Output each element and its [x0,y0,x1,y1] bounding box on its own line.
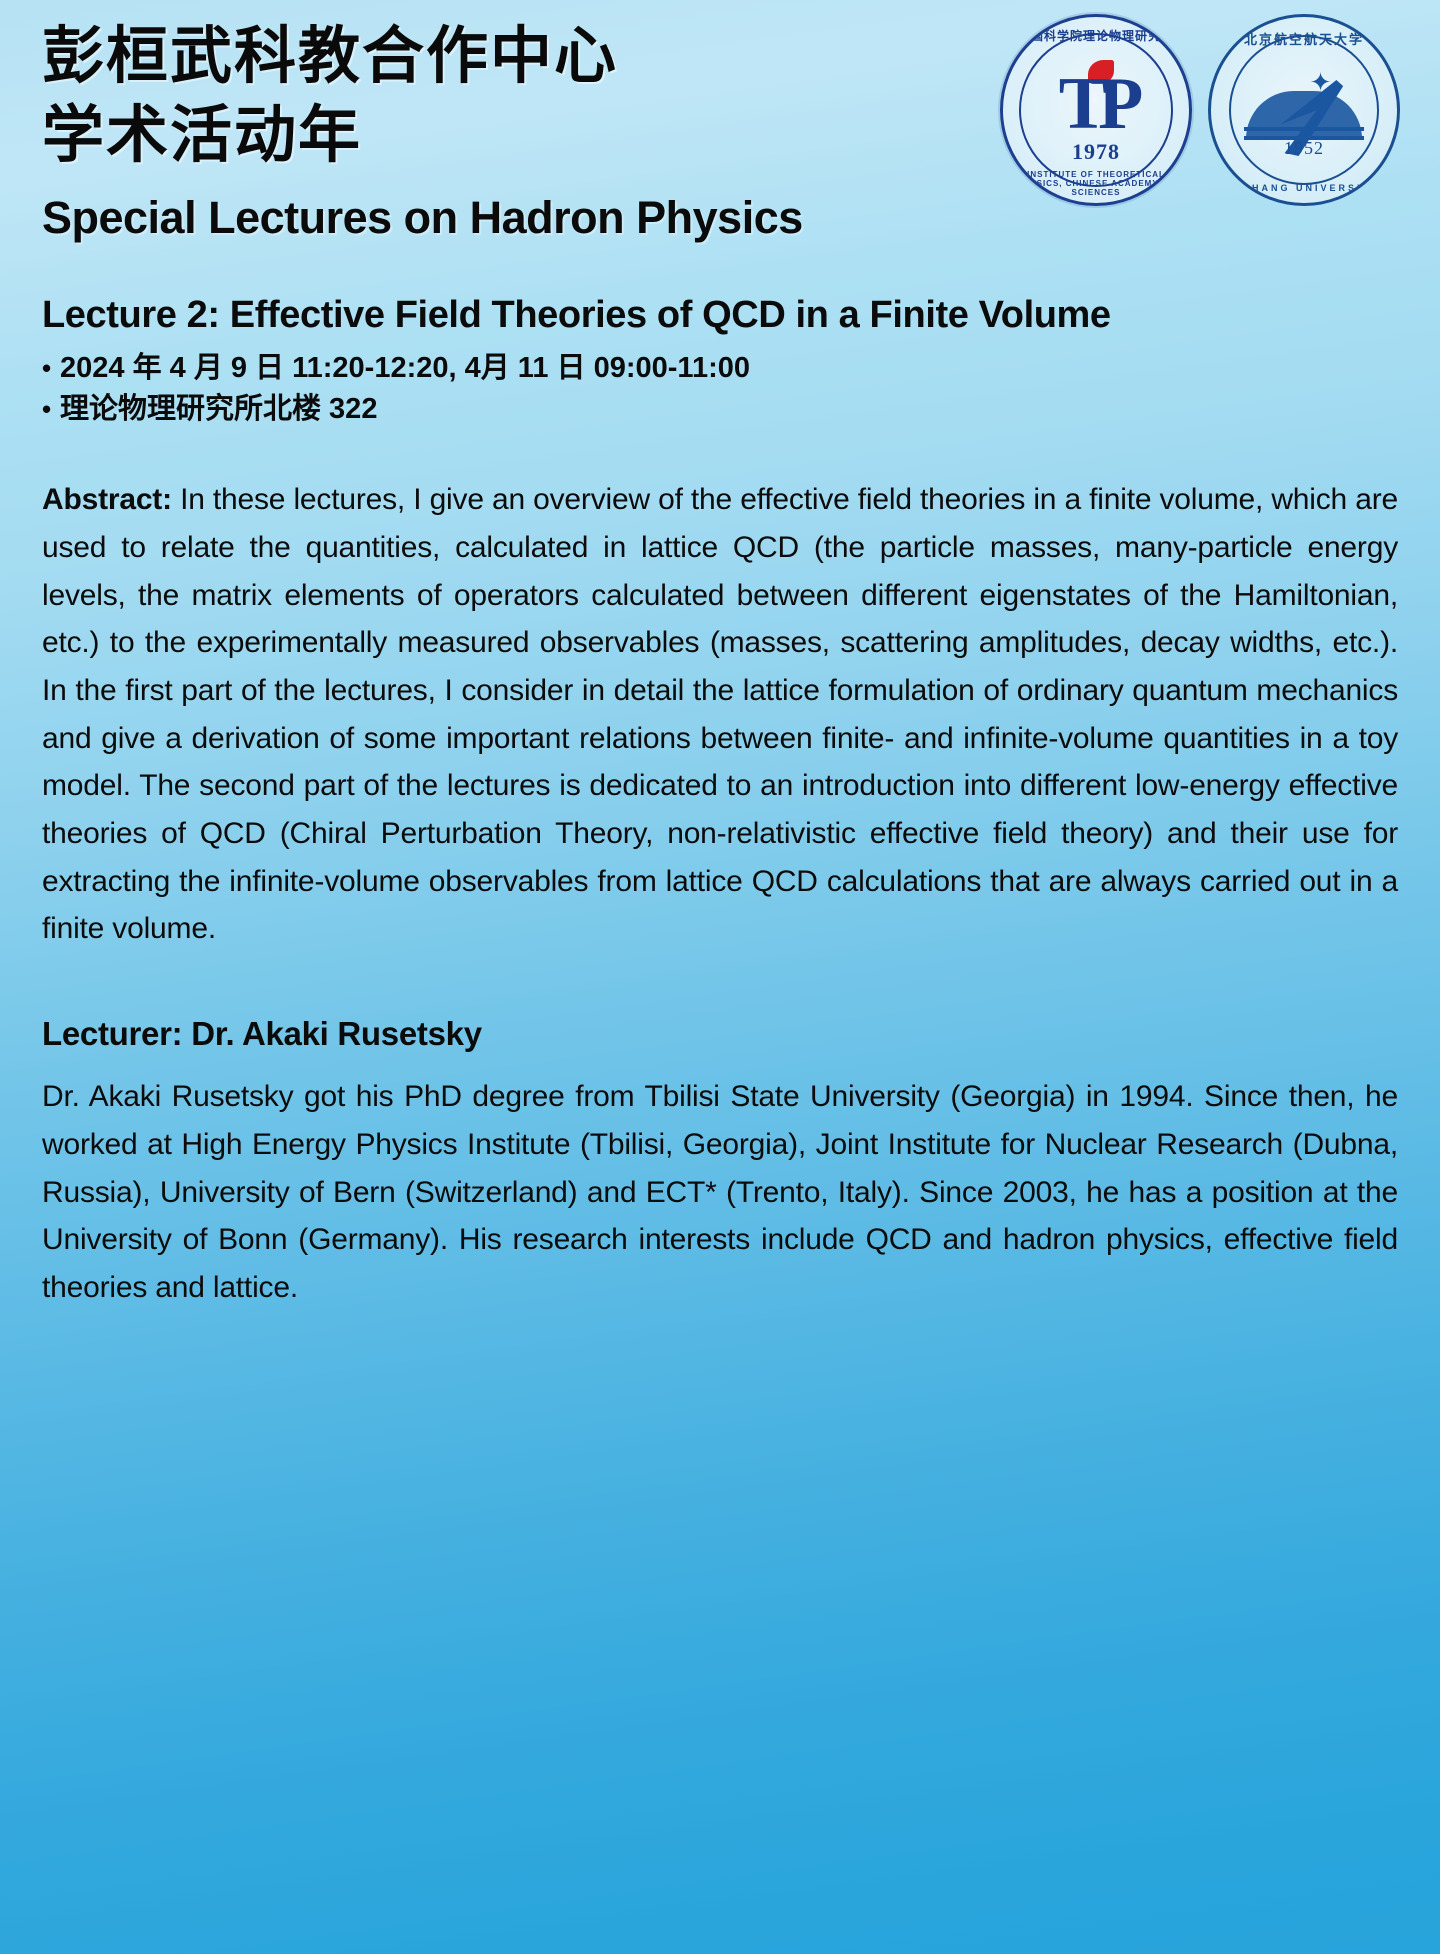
poster-root: 中国科学院理论物理研究所 TP 1978 INSTITUTE OF THEORE… [0,0,1440,1954]
lecture-location: • 理论物理研究所北楼 322 [42,389,1398,430]
itp-logo-year: 1978 [1003,139,1189,165]
lecturer-heading: Lecturer: Dr. Akaki Rusetsky [42,1015,1398,1053]
logo-bar: 中国科学院理论物理研究所 TP 1978 INSTITUTE OF THEORE… [1000,14,1400,206]
beihang-logo-year: 1952 [1211,138,1397,159]
abstract-label: Abstract: [42,483,172,516]
itp-cas-logo: 中国科学院理论物理研究所 TP 1978 INSTITUTE OF THEORE… [1000,14,1192,206]
bullet-icon: • [42,355,60,381]
itp-logo-english-text: INSTITUTE OF THEORETICAL PHYSICS, CHINES… [1003,170,1189,197]
lecturer-bio: Dr. Akaki Rusetsky got his PhD degree fr… [42,1073,1398,1311]
abstract-body: In these lectures, I give an overview of… [42,483,1398,945]
beihang-logo-english-text: BEIHANG UNIVERSITY [1211,183,1397,193]
lecture-title: Lecture 2: Effective Field Theories of Q… [42,294,1398,338]
lecture-location-text: 理论物理研究所北楼 322 [60,389,377,430]
chinese-title-line-1: 彭桓武科教合作中心 [42,16,742,95]
bullet-icon: • [42,396,60,422]
lecture-meta-list: • 2024 年 4 月 9 日 11:20-12:20, 4月 11 日 09… [42,348,1398,430]
itp-logo-monogram: TP [1059,67,1134,141]
beihang-university-logo: 北京航空航天大学 ✦ 1952 BEIHANG UNIVERSITY [1208,14,1400,206]
abstract-paragraph: Abstract: In these lectures, I give an o… [42,476,1398,953]
spacer [42,430,1398,476]
beihang-logo-chinese-text: 北京航空航天大学 [1211,29,1397,48]
chinese-title-line-2: 学术活动年 [42,95,742,174]
itp-logo-chinese-text: 中国科学院理论物理研究所 [1003,27,1189,44]
lecture-datetime-text: 2024 年 4 月 9 日 11:20-12:20, 4月 11 日 09:0… [60,348,750,389]
chinese-program-title: 彭桓武科教合作中心 学术活动年 [42,0,742,175]
lecture-datetime: • 2024 年 4 月 9 日 11:20-12:20, 4月 11 日 09… [42,348,1398,389]
